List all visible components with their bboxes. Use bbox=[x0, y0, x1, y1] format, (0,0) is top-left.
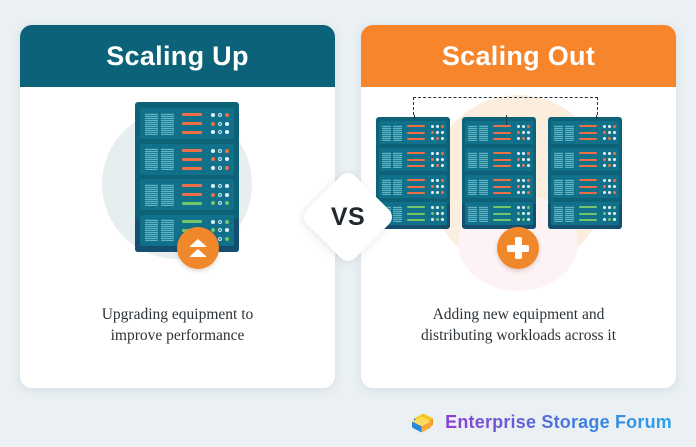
status-bar bbox=[493, 219, 511, 221]
vs-badge: VS bbox=[314, 183, 382, 251]
led-indicator bbox=[527, 218, 530, 221]
status-bar bbox=[493, 165, 511, 167]
caption-scaling-out: Adding new equipment and distributing wo… bbox=[361, 305, 676, 347]
led-row bbox=[211, 228, 229, 232]
led-indicator bbox=[517, 131, 520, 134]
led-indicator bbox=[441, 137, 444, 140]
bracket-drop-right bbox=[596, 115, 597, 119]
drive-bay bbox=[161, 148, 174, 170]
status-bar-group bbox=[493, 125, 511, 140]
brand-name: Enterprise Storage Forum bbox=[445, 412, 672, 433]
led-indicator bbox=[441, 164, 444, 167]
led-row bbox=[603, 131, 616, 134]
status-bar bbox=[493, 132, 511, 134]
vs-label: VS bbox=[314, 183, 382, 251]
caption-line: Upgrading equipment to bbox=[48, 305, 307, 326]
card-header-scaling-up: Scaling Up bbox=[20, 25, 335, 87]
drive-bay-group bbox=[468, 152, 490, 168]
status-bar bbox=[182, 158, 202, 161]
drive-bay bbox=[565, 206, 574, 222]
drive-bay bbox=[161, 219, 174, 241]
card-title-scaling-out: Scaling Out bbox=[442, 41, 595, 72]
led-group bbox=[603, 152, 616, 167]
status-bar-group bbox=[182, 113, 202, 134]
led-indicator bbox=[517, 179, 520, 182]
status-bar bbox=[182, 184, 202, 187]
led-row bbox=[431, 206, 444, 209]
rack-row bbox=[140, 144, 234, 175]
rack-row bbox=[465, 121, 533, 144]
caption-line: Adding new equipment and bbox=[389, 305, 648, 326]
led-indicator bbox=[613, 164, 616, 167]
led-indicator bbox=[218, 237, 222, 241]
led-indicator bbox=[225, 228, 229, 232]
led-row bbox=[211, 157, 229, 161]
led-row bbox=[431, 152, 444, 155]
status-bar bbox=[182, 220, 202, 223]
led-group bbox=[431, 152, 444, 167]
led-indicator bbox=[527, 206, 530, 209]
card-scaling-out: Scaling Out bbox=[361, 25, 676, 388]
led-indicator bbox=[225, 237, 229, 241]
status-bar bbox=[407, 159, 425, 161]
led-indicator bbox=[613, 185, 616, 188]
led-indicator bbox=[522, 164, 525, 167]
led-indicator bbox=[608, 131, 611, 134]
status-bar bbox=[493, 213, 511, 215]
scale-up-badge bbox=[177, 227, 219, 269]
rack-row bbox=[379, 121, 447, 144]
led-indicator bbox=[527, 152, 530, 155]
caption-line: distributing workloads across it bbox=[389, 326, 648, 347]
led-indicator bbox=[522, 185, 525, 188]
led-row bbox=[431, 131, 444, 134]
led-row bbox=[211, 149, 229, 153]
status-bar bbox=[493, 138, 511, 140]
led-indicator bbox=[436, 179, 439, 182]
status-bar bbox=[493, 179, 511, 181]
led-row bbox=[603, 179, 616, 182]
status-bar bbox=[182, 131, 202, 134]
led-indicator bbox=[431, 152, 434, 155]
led-indicator bbox=[436, 218, 439, 221]
led-row bbox=[431, 191, 444, 194]
drive-bay bbox=[468, 206, 477, 222]
rack-row bbox=[551, 175, 619, 198]
status-bar bbox=[407, 192, 425, 194]
led-indicator bbox=[218, 193, 222, 197]
led-indicator bbox=[613, 218, 616, 221]
led-group bbox=[517, 152, 530, 167]
led-indicator bbox=[603, 158, 606, 161]
led-indicator bbox=[211, 113, 215, 117]
led-row bbox=[431, 137, 444, 140]
led-row bbox=[431, 179, 444, 182]
scale-out-badge bbox=[497, 227, 539, 269]
led-row bbox=[211, 113, 229, 117]
led-row bbox=[517, 131, 530, 134]
led-group bbox=[603, 206, 616, 221]
card-body-scaling-up: Upgrading equipment to improve performan… bbox=[20, 87, 335, 388]
led-indicator bbox=[436, 164, 439, 167]
status-bar-group bbox=[182, 149, 202, 170]
drive-bay bbox=[161, 113, 174, 135]
illustration-scaling-up bbox=[20, 87, 335, 302]
led-indicator bbox=[441, 131, 444, 134]
server-rack bbox=[548, 117, 622, 229]
drive-bay bbox=[393, 206, 402, 222]
status-bar bbox=[579, 159, 597, 161]
drive-bay bbox=[145, 219, 158, 241]
status-bar bbox=[493, 192, 511, 194]
status-bar bbox=[407, 165, 425, 167]
drive-bay bbox=[554, 152, 563, 168]
led-indicator bbox=[527, 125, 530, 128]
caption-scaling-up: Upgrading equipment to improve performan… bbox=[20, 305, 335, 347]
led-indicator bbox=[527, 212, 530, 215]
led-indicator bbox=[218, 184, 222, 188]
drive-bay-group bbox=[382, 125, 404, 141]
drive-bay-group bbox=[468, 179, 490, 195]
card-header-scaling-out: Scaling Out bbox=[361, 25, 676, 87]
led-indicator bbox=[211, 157, 215, 161]
drive-bay bbox=[554, 125, 563, 141]
led-indicator bbox=[218, 220, 222, 224]
led-row bbox=[517, 212, 530, 215]
status-bar bbox=[182, 202, 202, 205]
drive-bay bbox=[554, 179, 563, 195]
status-bar bbox=[579, 192, 597, 194]
drive-bay bbox=[554, 206, 563, 222]
led-indicator bbox=[613, 158, 616, 161]
drive-bay-group bbox=[145, 184, 177, 206]
led-indicator bbox=[527, 131, 530, 134]
led-indicator bbox=[522, 191, 525, 194]
led-indicator bbox=[517, 185, 520, 188]
led-indicator bbox=[517, 164, 520, 167]
led-indicator bbox=[603, 131, 606, 134]
double-chevron-up-icon bbox=[189, 238, 207, 258]
led-indicator bbox=[527, 179, 530, 182]
status-bar bbox=[407, 219, 425, 221]
drive-bay bbox=[145, 184, 158, 206]
drive-bay bbox=[565, 152, 574, 168]
rack-row bbox=[465, 202, 533, 225]
led-indicator bbox=[431, 164, 434, 167]
led-row bbox=[603, 218, 616, 221]
led-indicator bbox=[441, 158, 444, 161]
led-indicator bbox=[431, 185, 434, 188]
led-indicator bbox=[225, 149, 229, 153]
rack-row bbox=[379, 175, 447, 198]
led-row bbox=[603, 158, 616, 161]
led-indicator bbox=[522, 218, 525, 221]
led-indicator bbox=[225, 166, 229, 170]
drive-bay bbox=[565, 125, 574, 141]
led-indicator bbox=[522, 179, 525, 182]
status-bar bbox=[407, 213, 425, 215]
dashed-connector-bracket bbox=[413, 97, 598, 115]
led-indicator bbox=[603, 152, 606, 155]
led-row bbox=[211, 184, 229, 188]
led-indicator bbox=[608, 152, 611, 155]
drive-bay bbox=[382, 125, 391, 141]
status-bar bbox=[579, 206, 597, 208]
status-bar-group bbox=[579, 206, 597, 221]
led-indicator bbox=[603, 218, 606, 221]
led-row bbox=[431, 185, 444, 188]
led-indicator bbox=[517, 137, 520, 140]
led-indicator bbox=[613, 179, 616, 182]
led-indicator bbox=[436, 131, 439, 134]
status-bar-group bbox=[579, 179, 597, 194]
drive-bay-group bbox=[382, 152, 404, 168]
led-indicator bbox=[431, 179, 434, 182]
led-indicator bbox=[613, 137, 616, 140]
drive-bay bbox=[145, 113, 158, 135]
led-indicator bbox=[436, 137, 439, 140]
status-bar bbox=[579, 138, 597, 140]
status-bar-group bbox=[407, 206, 425, 221]
led-indicator bbox=[225, 193, 229, 197]
status-bar-group bbox=[493, 206, 511, 221]
illustration-scaling-out bbox=[361, 87, 676, 302]
led-indicator bbox=[527, 158, 530, 161]
led-indicator bbox=[522, 131, 525, 134]
led-row bbox=[211, 122, 229, 126]
led-indicator bbox=[608, 137, 611, 140]
status-bar bbox=[579, 152, 597, 154]
drive-bay bbox=[145, 148, 158, 170]
led-row bbox=[211, 201, 229, 205]
led-row bbox=[603, 137, 616, 140]
led-group bbox=[211, 113, 229, 134]
led-indicator bbox=[436, 191, 439, 194]
led-indicator bbox=[441, 185, 444, 188]
drive-bay bbox=[382, 179, 391, 195]
chevron-up-icon bbox=[189, 239, 207, 247]
led-indicator bbox=[603, 164, 606, 167]
status-bar bbox=[579, 125, 597, 127]
led-indicator bbox=[441, 206, 444, 209]
led-group bbox=[603, 125, 616, 140]
led-indicator bbox=[613, 125, 616, 128]
status-bar bbox=[579, 186, 597, 188]
led-indicator bbox=[517, 191, 520, 194]
led-indicator bbox=[517, 218, 520, 221]
status-bar-group bbox=[493, 179, 511, 194]
led-group bbox=[517, 206, 530, 221]
led-row bbox=[517, 152, 530, 155]
led-indicator bbox=[225, 113, 229, 117]
led-indicator bbox=[517, 212, 520, 215]
led-indicator bbox=[613, 131, 616, 134]
led-indicator bbox=[218, 157, 222, 161]
drive-bay bbox=[479, 152, 488, 168]
led-indicator bbox=[225, 220, 229, 224]
status-bar-group bbox=[579, 152, 597, 167]
drive-bay-group bbox=[554, 125, 576, 141]
drive-bay bbox=[479, 206, 488, 222]
plus-bar-vertical bbox=[515, 237, 522, 259]
led-indicator bbox=[522, 152, 525, 155]
led-indicator bbox=[218, 149, 222, 153]
led-indicator bbox=[436, 125, 439, 128]
led-row bbox=[431, 158, 444, 161]
led-indicator bbox=[225, 130, 229, 134]
drive-bay-group bbox=[382, 179, 404, 195]
led-group bbox=[431, 206, 444, 221]
drive-bay bbox=[468, 179, 477, 195]
drive-bay-group bbox=[554, 152, 576, 168]
led-indicator bbox=[431, 158, 434, 161]
led-row bbox=[517, 125, 530, 128]
rack-row bbox=[465, 148, 533, 171]
status-bar bbox=[493, 206, 511, 208]
status-bar bbox=[407, 132, 425, 134]
status-bar bbox=[493, 159, 511, 161]
led-indicator bbox=[608, 218, 611, 221]
led-row bbox=[431, 218, 444, 221]
drive-bay-group bbox=[145, 113, 177, 135]
led-indicator bbox=[225, 122, 229, 126]
led-indicator bbox=[613, 206, 616, 209]
led-indicator bbox=[608, 206, 611, 209]
drive-bay-group bbox=[145, 219, 177, 241]
led-indicator bbox=[436, 152, 439, 155]
status-bar bbox=[493, 152, 511, 154]
led-indicator bbox=[218, 201, 222, 205]
led-indicator bbox=[608, 164, 611, 167]
led-row bbox=[431, 125, 444, 128]
led-indicator bbox=[211, 201, 215, 205]
drive-bay bbox=[479, 125, 488, 141]
led-indicator bbox=[527, 137, 530, 140]
drive-bay bbox=[468, 125, 477, 141]
led-indicator bbox=[608, 125, 611, 128]
led-indicator bbox=[522, 158, 525, 161]
status-bar bbox=[579, 132, 597, 134]
led-indicator bbox=[522, 137, 525, 140]
led-indicator bbox=[517, 206, 520, 209]
card-body-scaling-out: Adding new equipment and distributing wo… bbox=[361, 87, 676, 388]
drive-bay bbox=[161, 184, 174, 206]
drive-bay-group bbox=[468, 125, 490, 141]
led-indicator bbox=[603, 191, 606, 194]
led-row bbox=[517, 137, 530, 140]
led-indicator bbox=[522, 206, 525, 209]
status-bar-group bbox=[182, 184, 202, 205]
led-row bbox=[431, 164, 444, 167]
led-row bbox=[517, 218, 530, 221]
led-indicator bbox=[517, 152, 520, 155]
led-row bbox=[211, 220, 229, 224]
chevron-up-icon bbox=[189, 249, 207, 257]
led-row bbox=[211, 130, 229, 134]
led-row bbox=[603, 125, 616, 128]
led-indicator bbox=[436, 185, 439, 188]
led-row bbox=[603, 206, 616, 209]
led-indicator bbox=[225, 184, 229, 188]
led-indicator bbox=[225, 201, 229, 205]
led-indicator bbox=[527, 164, 530, 167]
status-bar-group bbox=[407, 125, 425, 140]
led-indicator bbox=[441, 179, 444, 182]
led-indicator bbox=[603, 179, 606, 182]
led-indicator bbox=[603, 185, 606, 188]
status-bar bbox=[407, 206, 425, 208]
led-indicator bbox=[431, 206, 434, 209]
led-indicator bbox=[436, 212, 439, 215]
rack-row bbox=[551, 202, 619, 225]
drive-bay bbox=[393, 152, 402, 168]
led-indicator bbox=[603, 212, 606, 215]
status-bar bbox=[182, 113, 202, 116]
led-indicator bbox=[211, 193, 215, 197]
drive-bay-group bbox=[468, 206, 490, 222]
server-rack bbox=[462, 117, 536, 229]
led-indicator bbox=[603, 125, 606, 128]
led-row bbox=[517, 164, 530, 167]
led-group bbox=[431, 179, 444, 194]
led-group bbox=[211, 149, 229, 170]
led-row bbox=[603, 164, 616, 167]
led-indicator bbox=[441, 152, 444, 155]
footer-branding: Enterprise Storage Forum bbox=[410, 409, 672, 435]
rack-row bbox=[140, 108, 234, 139]
status-bar bbox=[407, 152, 425, 154]
status-bar bbox=[182, 122, 202, 125]
stacked-books-logo-icon bbox=[410, 409, 436, 435]
led-indicator bbox=[431, 191, 434, 194]
rack-row bbox=[551, 148, 619, 171]
drive-bay bbox=[393, 179, 402, 195]
rack-row bbox=[465, 175, 533, 198]
led-row bbox=[517, 206, 530, 209]
led-indicator bbox=[527, 191, 530, 194]
led-row bbox=[603, 152, 616, 155]
led-indicator bbox=[441, 212, 444, 215]
status-bar-group bbox=[407, 179, 425, 194]
led-indicator bbox=[218, 130, 222, 134]
led-row bbox=[517, 185, 530, 188]
led-row bbox=[211, 193, 229, 197]
led-indicator bbox=[613, 152, 616, 155]
led-indicator bbox=[436, 206, 439, 209]
status-bar bbox=[407, 138, 425, 140]
led-row bbox=[517, 191, 530, 194]
led-row bbox=[517, 179, 530, 182]
led-indicator bbox=[441, 125, 444, 128]
led-indicator bbox=[431, 125, 434, 128]
drive-bay bbox=[479, 179, 488, 195]
drive-bay-group bbox=[145, 148, 177, 170]
led-indicator bbox=[218, 166, 222, 170]
status-bar bbox=[579, 179, 597, 181]
bracket-stem bbox=[506, 115, 507, 125]
infographic-canvas: Scaling Up bbox=[0, 0, 696, 447]
status-bar bbox=[182, 193, 202, 196]
led-indicator bbox=[211, 166, 215, 170]
led-row bbox=[431, 212, 444, 215]
drive-bay bbox=[565, 179, 574, 195]
card-scaling-up: Scaling Up bbox=[20, 25, 335, 388]
drive-bay-group bbox=[554, 206, 576, 222]
rack-row bbox=[140, 179, 234, 210]
led-indicator bbox=[218, 228, 222, 232]
led-indicator bbox=[613, 212, 616, 215]
led-group bbox=[431, 125, 444, 140]
